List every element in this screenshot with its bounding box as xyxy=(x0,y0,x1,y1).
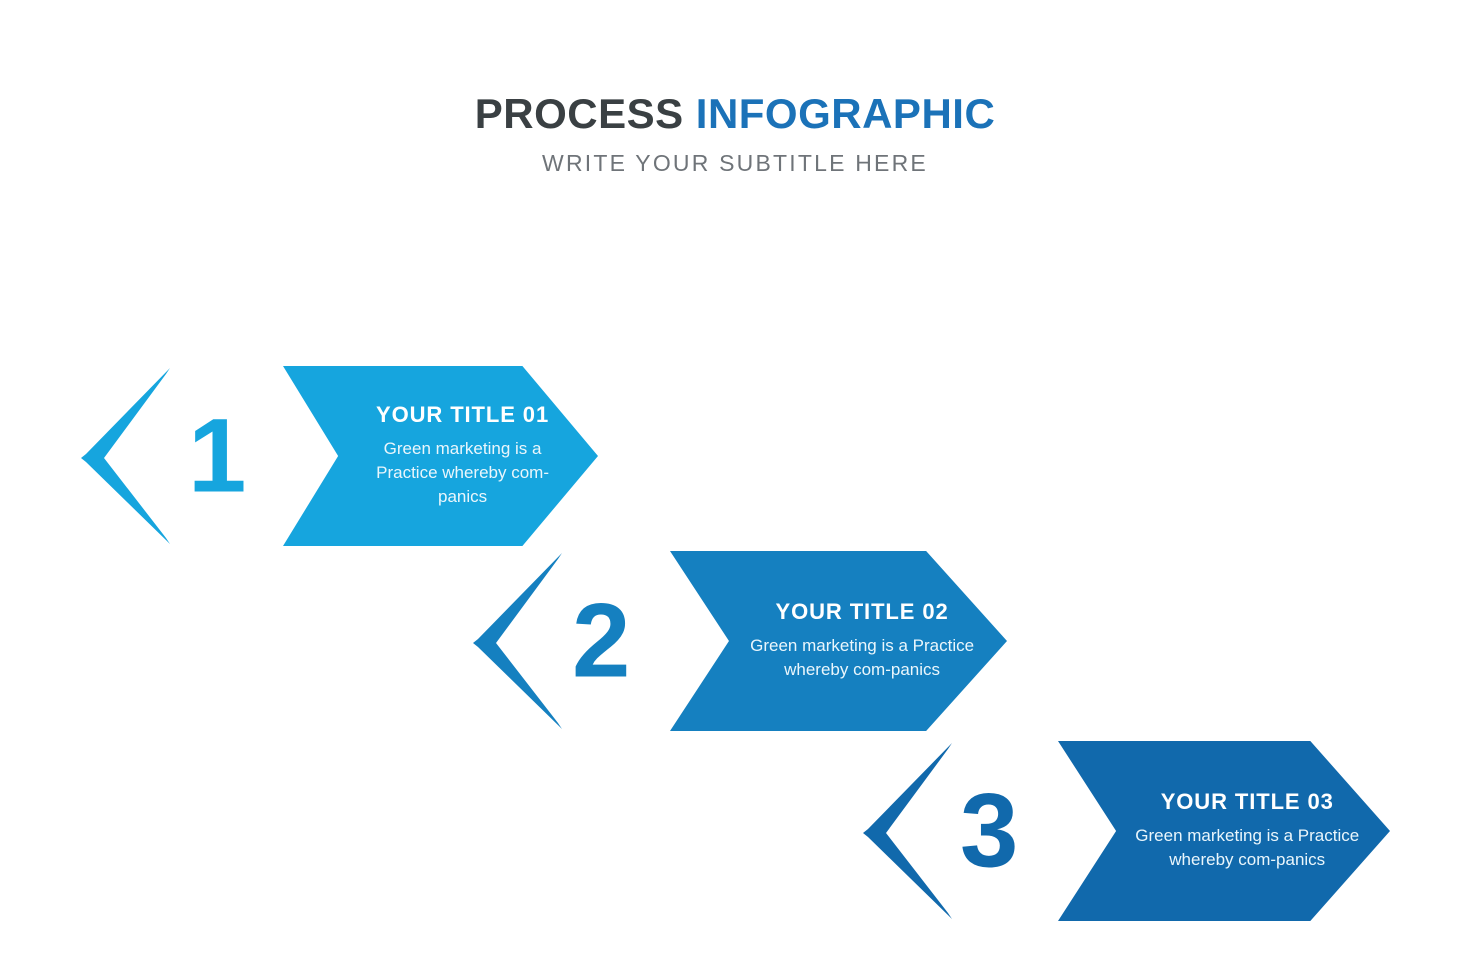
step-banner-2[interactable]: YOUR TITLE 02 Green marketing is a Pract… xyxy=(670,551,1007,731)
step-banner-2-content: YOUR TITLE 02 Green marketing is a Pract… xyxy=(670,600,1007,682)
chevron-bracket-icon xyxy=(78,366,174,546)
chevron-bracket-shape xyxy=(81,368,170,544)
step-number-1: 1 xyxy=(188,404,245,509)
chevron-bracket-shape xyxy=(863,743,952,919)
step-number-3: 3 xyxy=(960,779,1017,884)
step-banner-3-content: YOUR TITLE 03 Green marketing is a Pract… xyxy=(1058,790,1390,872)
step-description-1: Green marketing is a Practice whereby co… xyxy=(352,437,573,509)
step-banner-3[interactable]: YOUR TITLE 03 Green marketing is a Pract… xyxy=(1058,741,1390,921)
step-title-3: YOUR TITLE 03 xyxy=(1131,790,1363,814)
step-description-2: Green marketing is a Practice whereby co… xyxy=(744,634,980,682)
step-description-3: Green marketing is a Practice whereby co… xyxy=(1131,824,1363,872)
process-step-2[interactable]: 2 YOUR TITLE 02 Green marketing is a Pra… xyxy=(470,551,1007,731)
step-title-2: YOUR TITLE 02 xyxy=(744,600,980,624)
process-step-3[interactable]: 3 YOUR TITLE 03 Green marketing is a Pra… xyxy=(860,741,1390,921)
step-banner-1[interactable]: YOUR TITLE 01 Green marketing is a Pract… xyxy=(283,366,598,546)
chevron-bracket-shape xyxy=(473,553,562,729)
process-steps-container: 1 YOUR TITLE 01 Green marketing is a Pra… xyxy=(0,0,1470,980)
process-step-1[interactable]: 1 YOUR TITLE 01 Green marketing is a Pra… xyxy=(78,366,598,546)
chevron-bracket-icon xyxy=(860,741,956,921)
step-number-2: 2 xyxy=(572,589,629,694)
step-title-1: YOUR TITLE 01 xyxy=(352,403,573,427)
step-banner-1-content: YOUR TITLE 01 Green marketing is a Pract… xyxy=(283,403,598,510)
chevron-bracket-icon xyxy=(470,551,566,731)
